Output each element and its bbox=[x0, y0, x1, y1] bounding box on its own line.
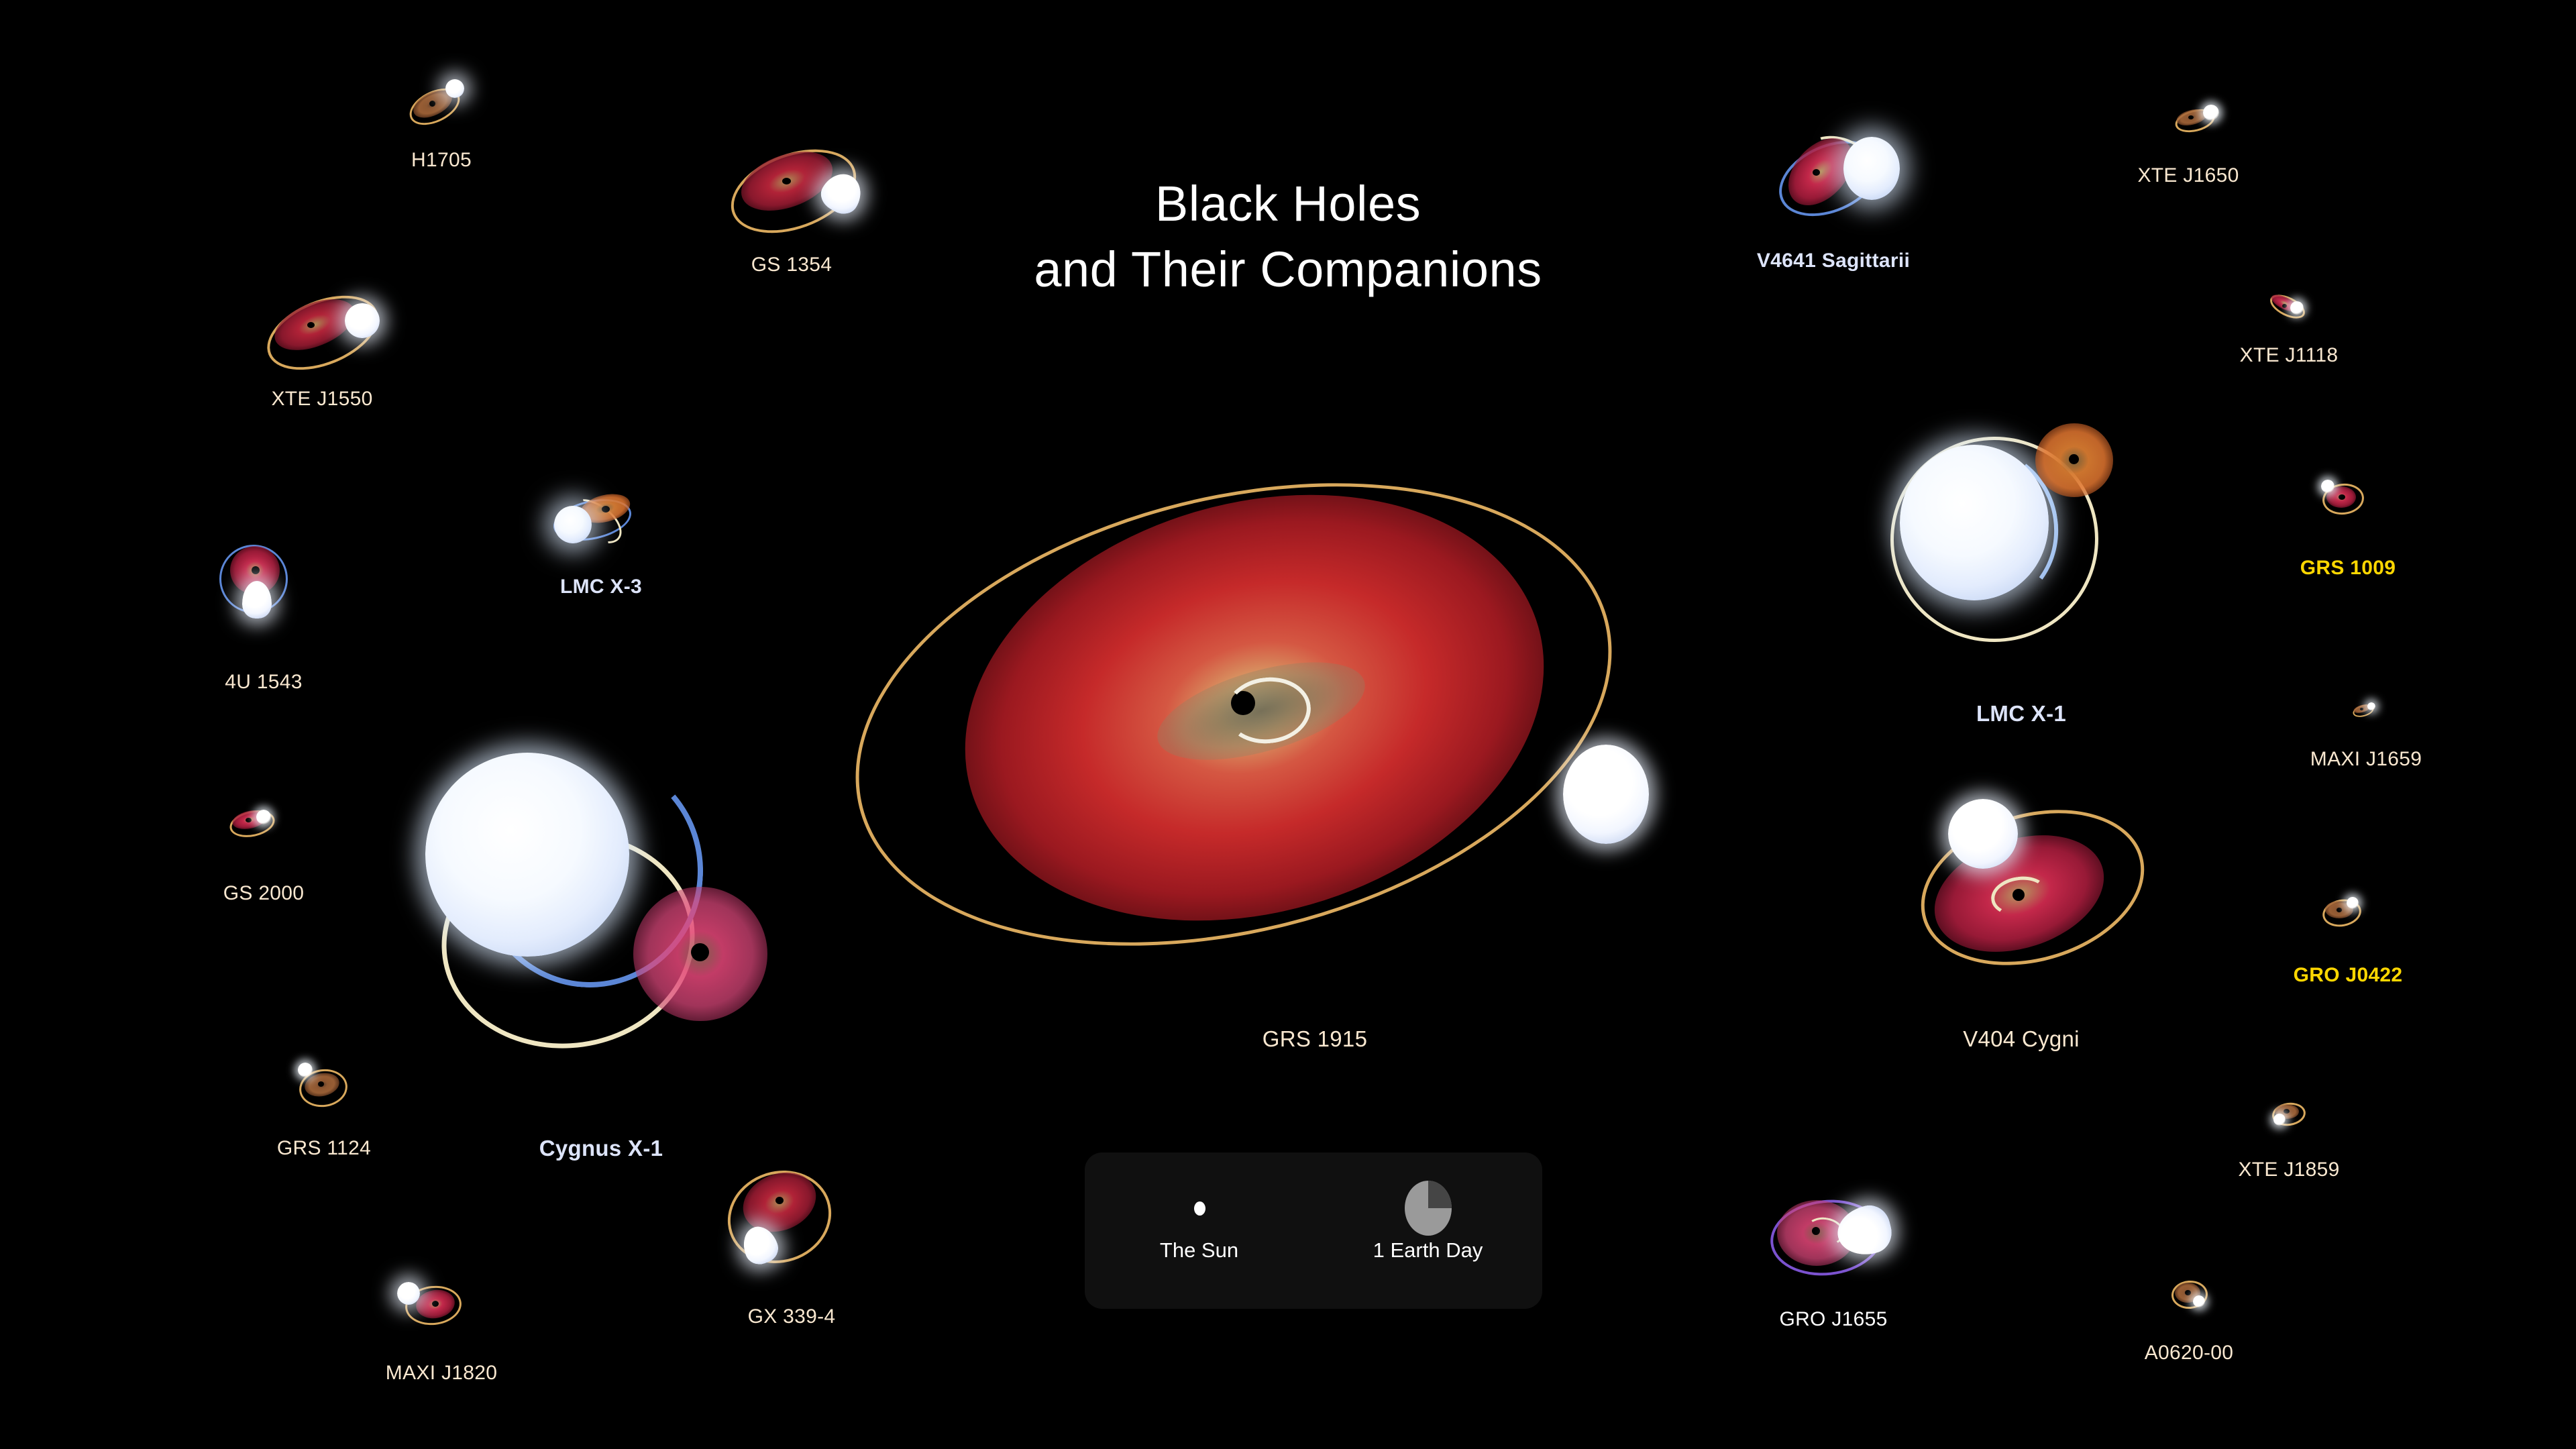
companion-star-icon bbox=[2203, 105, 2219, 121]
gx3394-artwork bbox=[724, 1167, 845, 1281]
label-grs1124: GRS 1124 bbox=[277, 1137, 371, 1160]
label-maxij1820: MAXI J1820 bbox=[386, 1362, 497, 1385]
maxij1820-artwork bbox=[396, 1278, 476, 1329]
pie-wedge bbox=[1428, 1181, 1452, 1208]
black-hole-icon bbox=[1813, 169, 1820, 176]
companion-star-icon bbox=[1843, 137, 1900, 200]
companion-star-icon bbox=[256, 810, 271, 824]
system-cygnusx1[interactable] bbox=[416, 745, 805, 1093]
companion-star-icon bbox=[2193, 1295, 2205, 1307]
v404cygni-artwork bbox=[1905, 782, 2194, 1003]
black-hole-icon bbox=[432, 1301, 439, 1307]
black-hole-icon bbox=[782, 178, 791, 184]
black-hole-icon bbox=[691, 943, 709, 961]
grs1124-artwork bbox=[295, 1060, 362, 1107]
system-grs1915[interactable] bbox=[839, 470, 1677, 1040]
label-xtej1118: XTE J1118 bbox=[2240, 344, 2339, 367]
companion-star-icon bbox=[298, 1063, 313, 1077]
black-hole-icon bbox=[2188, 115, 2194, 119]
companion-star-icon bbox=[2347, 897, 2359, 909]
xtej1650-artwork bbox=[2173, 102, 2230, 138]
quarter-pie-clock-icon bbox=[1405, 1181, 1452, 1236]
label-xtej1650: XTE J1650 bbox=[2137, 164, 2239, 187]
label-gs1354: GS 1354 bbox=[751, 254, 833, 276]
label-grs1915: GRS 1915 bbox=[1263, 1026, 1368, 1052]
system-a062000[interactable] bbox=[2170, 1278, 2221, 1314]
system-4u1543[interactable] bbox=[218, 537, 305, 631]
black-hole-icon bbox=[2185, 1290, 2191, 1295]
xtej1550-artwork bbox=[262, 288, 396, 369]
sun-dot-icon bbox=[1194, 1201, 1205, 1216]
system-v4641sgr[interactable] bbox=[1771, 127, 1919, 228]
companion-star-icon bbox=[554, 506, 592, 543]
system-xtej1650[interactable] bbox=[2173, 102, 2230, 138]
page-title: Black Holes and Their Companions bbox=[0, 171, 2576, 303]
companion-star-icon bbox=[1900, 445, 2049, 600]
companion-star-icon bbox=[425, 753, 629, 957]
maxij1659-artwork bbox=[2351, 701, 2385, 721]
companion-star-icon bbox=[2321, 480, 2334, 493]
system-gs1354[interactable] bbox=[724, 144, 879, 238]
system-grs1124[interactable] bbox=[295, 1060, 362, 1107]
label-grs1009: GRS 1009 bbox=[2300, 557, 2396, 580]
h1705-artwork bbox=[402, 74, 476, 127]
black-hole-icon bbox=[246, 818, 252, 822]
black-hole-icon bbox=[429, 101, 435, 107]
label-h1705: H1705 bbox=[411, 149, 472, 172]
system-gx3394[interactable] bbox=[724, 1167, 845, 1281]
label-xtej1859: XTE J1859 bbox=[2238, 1159, 2339, 1181]
system-xtej1118[interactable] bbox=[2267, 292, 2318, 323]
system-xtej1859[interactable] bbox=[2271, 1100, 2318, 1132]
day-icon-wrap bbox=[1313, 1183, 1542, 1233]
cygnusx1-artwork bbox=[416, 745, 805, 1093]
label-groj0422: GRO J0422 bbox=[2294, 964, 2403, 987]
system-maxij1820[interactable] bbox=[396, 1278, 476, 1329]
black-hole-icon bbox=[2284, 1109, 2290, 1114]
black-hole-icon bbox=[775, 1197, 784, 1204]
black-hole-icon bbox=[2282, 304, 2287, 308]
black-hole-icon bbox=[252, 566, 260, 574]
system-groj0422[interactable] bbox=[2321, 896, 2375, 930]
label-v4641sgr: V4641 Sagittarii bbox=[1757, 250, 1910, 272]
system-xtej1550[interactable] bbox=[262, 288, 396, 369]
system-h1705[interactable] bbox=[402, 74, 476, 127]
label-gs2000: GS 2000 bbox=[223, 882, 305, 905]
system-gs2000[interactable] bbox=[228, 802, 288, 842]
black-hole-icon bbox=[2069, 454, 2079, 464]
companion-star-icon bbox=[2290, 301, 2304, 315]
grs1915-artwork bbox=[839, 470, 1677, 1040]
system-lmcx3[interactable] bbox=[550, 488, 637, 550]
gs2000-artwork bbox=[228, 802, 288, 842]
groj1655-artwork bbox=[1768, 1191, 1922, 1285]
black-hole-icon bbox=[2360, 708, 2363, 710]
black-hole-icon bbox=[318, 1081, 324, 1087]
label-cygnusx1: Cygnus X-1 bbox=[539, 1136, 663, 1161]
label-v404cygni: V404 Cygni bbox=[1963, 1026, 2080, 1052]
a062000-artwork bbox=[2170, 1278, 2221, 1314]
label-xtej1550: XTE J1550 bbox=[271, 388, 372, 411]
label-gx3394: GX 339-4 bbox=[748, 1305, 836, 1328]
system-lmcx1[interactable] bbox=[1885, 413, 2180, 667]
companion-star-icon bbox=[2273, 1114, 2286, 1126]
black-hole-icon bbox=[2339, 494, 2345, 500]
label-lmcx3: LMC X-3 bbox=[560, 576, 642, 598]
legend-label-day: 1 Earth Day bbox=[1313, 1238, 1542, 1263]
label-4u1543: 4U 1543 bbox=[225, 671, 303, 694]
xtej1859-artwork bbox=[2271, 1100, 2318, 1132]
legend-item-sun: The Sun bbox=[1085, 1152, 1313, 1309]
xtej1118-artwork bbox=[2267, 292, 2318, 323]
black-hole-icon bbox=[307, 322, 315, 328]
gs1354-artwork bbox=[724, 144, 879, 238]
companion-star-icon bbox=[1948, 799, 2018, 869]
legend-label-sun: The Sun bbox=[1085, 1238, 1313, 1263]
label-lmcx1: LMC X-1 bbox=[1976, 701, 2066, 727]
legend-item-day: 1 Earth Day bbox=[1313, 1152, 1542, 1309]
v4641sgr-artwork bbox=[1771, 127, 1919, 228]
scale-legend-panel: The Sun 1 Earth Day bbox=[1085, 1152, 1542, 1309]
companion-star-icon bbox=[445, 79, 464, 98]
label-groj1655: GRO J1655 bbox=[1779, 1308, 1887, 1331]
groj0422-artwork bbox=[2321, 896, 2375, 930]
infographic-canvas: Black Holes and Their Companions H1705 G… bbox=[0, 0, 2576, 1449]
lmcx3-artwork bbox=[550, 488, 637, 550]
system-grs1009[interactable] bbox=[2321, 480, 2381, 520]
sun-icon-wrap bbox=[1085, 1183, 1313, 1233]
companion-star-icon bbox=[397, 1282, 420, 1305]
grs1009-artwork bbox=[2321, 480, 2381, 520]
system-maxij1659[interactable] bbox=[2351, 701, 2385, 721]
companion-star-icon bbox=[2367, 702, 2375, 710]
companion-star-icon bbox=[345, 303, 380, 338]
title-line-1: Black Holes bbox=[1155, 176, 1421, 231]
black-hole-icon bbox=[2337, 908, 2342, 912]
label-a062000: A0620-00 bbox=[2145, 1342, 2234, 1364]
system-v404cygni[interactable] bbox=[1905, 782, 2194, 1003]
system-groj1655[interactable] bbox=[1768, 1191, 1922, 1285]
lmcx1-artwork bbox=[1885, 413, 2180, 667]
companion-star-icon bbox=[1563, 745, 1649, 844]
4u1543-artwork bbox=[218, 537, 305, 631]
label-maxij1659: MAXI J1659 bbox=[2310, 748, 2422, 771]
black-hole-icon bbox=[602, 506, 610, 513]
